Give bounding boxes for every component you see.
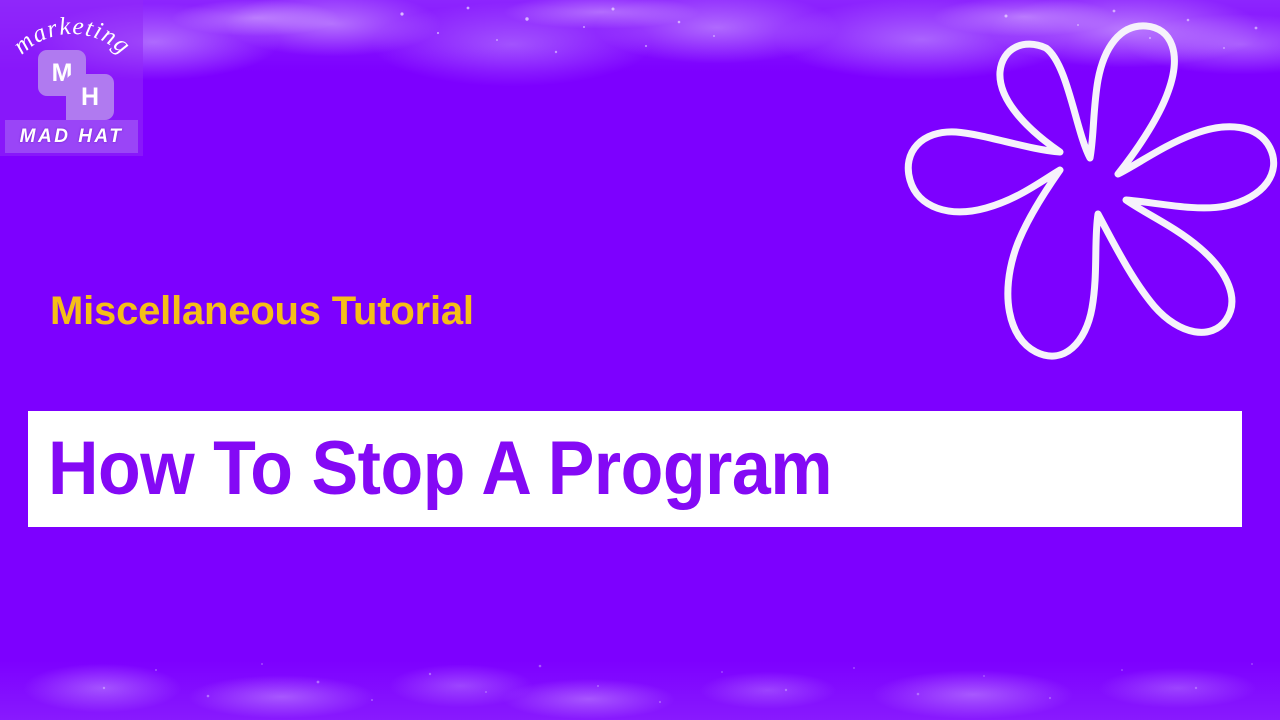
page-title: How To Stop A Program (48, 431, 832, 507)
sparkle-particles-bottom (0, 630, 1280, 720)
mist-top-highlight (0, 0, 1280, 60)
headline-bar: How To Stop A Program (28, 411, 1242, 527)
sparkle-particles-top (0, 0, 1280, 110)
brand-logo[interactable]: marketing M H MAD HAT (0, 0, 143, 156)
logo-badge: MAD HAT (5, 120, 138, 153)
logo-badge-label: MAD HAT (20, 126, 124, 148)
flower-splat-icon (900, 22, 1280, 394)
mist-bottom-texture (0, 644, 1280, 720)
eyebrow-title: Miscellaneous Tutorial (50, 289, 474, 334)
logo-tile-h: H (66, 74, 114, 120)
mist-top-texture (0, 0, 1280, 90)
slide-canvas: marketing M H MAD HAT Miscellaneous Tuto… (0, 0, 1280, 720)
